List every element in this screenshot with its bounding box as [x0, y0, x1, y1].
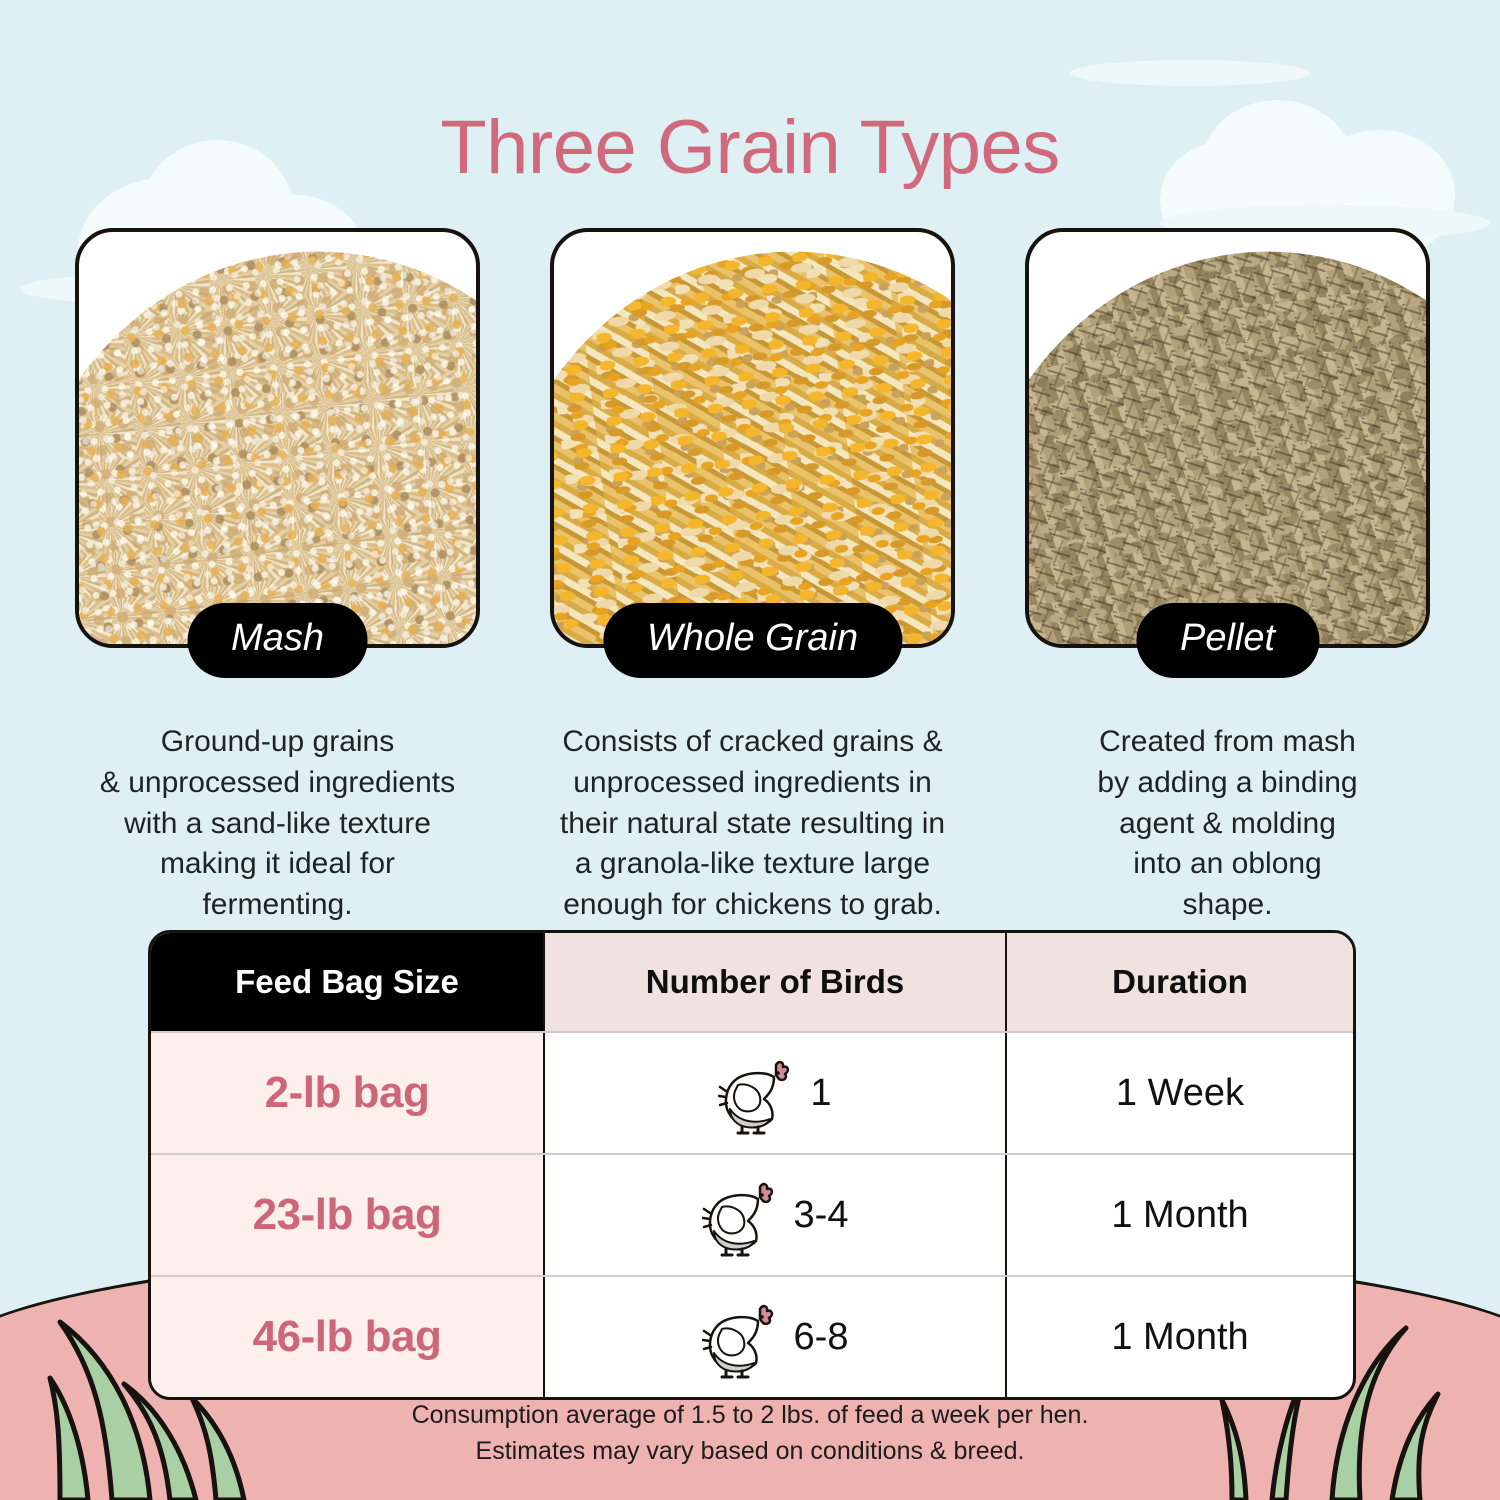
mash-grain-photo	[79, 232, 476, 644]
birds-count: 1	[810, 1072, 831, 1115]
desc-line: into an oblong	[1025, 844, 1430, 885]
footnote-line: Consumption average of 1.5 to 2 lbs. of …	[0, 1398, 1500, 1434]
table-row: 23-lb bag 3-4 1 Month	[151, 1153, 1353, 1275]
cell-number-of-birds: 3-4	[543, 1155, 1005, 1275]
desc-line: Consists of cracked grains &	[550, 722, 955, 763]
desc-line: fermenting.	[75, 885, 480, 926]
column-header-number-of-birds: Number of Birds	[543, 933, 1005, 1031]
column-header-feed-bag-size: Feed Bag Size	[151, 933, 543, 1031]
cell-number-of-birds: 6-8	[543, 1277, 1005, 1397]
cell-bag-size: 23-lb bag	[151, 1155, 543, 1275]
desc-line: their natural state resulting in	[550, 804, 955, 845]
desc-line: enough for chickens to grab.	[550, 885, 955, 926]
cell-bag-size: 2-lb bag	[151, 1033, 543, 1153]
desc-line: a granola-like texture large	[550, 844, 955, 885]
desc-line: agent & molding	[1025, 804, 1430, 845]
cell-duration: 1 Month	[1005, 1277, 1353, 1397]
cell-bag-size: 46-lb bag	[151, 1277, 543, 1397]
birds-count: 3-4	[794, 1194, 849, 1237]
grain-card-whole-grain: Whole Grain Consists of cracked grains &…	[550, 228, 955, 926]
pellet-photo	[1029, 232, 1426, 644]
footnote: Consumption average of 1.5 to 2 lbs. of …	[0, 1398, 1500, 1469]
cloud-wisp	[1070, 60, 1310, 86]
table-header-row: Feed Bag Size Number of Birds Duration	[151, 933, 1353, 1031]
grain-image-card	[75, 228, 480, 648]
grain-description: Consists of cracked grains & unprocessed…	[550, 722, 955, 926]
desc-line: shape.	[1025, 885, 1430, 926]
grain-description: Created from mash by adding a binding ag…	[1025, 722, 1430, 926]
grain-image-card	[1025, 228, 1430, 648]
table-row: 46-lb bag 6-8 1 Month	[151, 1275, 1353, 1397]
column-header-duration: Duration	[1005, 933, 1353, 1031]
grain-card-mash: Mash Ground-up grains & unprocessed ingr…	[75, 228, 480, 926]
desc-line: by adding a binding	[1025, 763, 1430, 804]
grain-label-badge: Whole Grain	[603, 603, 902, 678]
feed-bag-table: Feed Bag Size Number of Birds Duration 2…	[148, 930, 1356, 1400]
grain-image-card	[550, 228, 955, 648]
birds-count: 6-8	[794, 1316, 849, 1359]
desc-line: with a sand-like texture	[75, 804, 480, 845]
chicken-icon	[702, 1295, 776, 1379]
grain-description: Ground-up grains & unprocessed ingredien…	[75, 722, 480, 926]
grain-card-pellet: Pellet Created from mash by adding a bin…	[1025, 228, 1430, 926]
desc-line: making it ideal for	[75, 844, 480, 885]
desc-line: Created from mash	[1025, 722, 1430, 763]
grain-label-badge: Pellet	[1136, 603, 1319, 678]
desc-line: Ground-up grains	[75, 722, 480, 763]
cell-number-of-birds: 1	[543, 1033, 1005, 1153]
desc-line: unprocessed ingredients in	[550, 763, 955, 804]
cell-duration: 1 Month	[1005, 1155, 1353, 1275]
desc-line: & unprocessed ingredients	[75, 763, 480, 804]
footnote-line: Estimates may vary based on conditions &…	[0, 1434, 1500, 1470]
chicken-icon	[718, 1051, 792, 1135]
grain-type-cards: Mash Ground-up grains & unprocessed ingr…	[75, 228, 1430, 926]
table-row: 2-lb bag 1 1 Week	[151, 1031, 1353, 1153]
cell-duration: 1 Week	[1005, 1033, 1353, 1153]
chicken-icon	[702, 1173, 776, 1257]
grain-label-badge: Mash	[187, 603, 368, 678]
page-title: Three Grain Types	[0, 104, 1500, 191]
whole-grain-photo	[554, 232, 951, 644]
